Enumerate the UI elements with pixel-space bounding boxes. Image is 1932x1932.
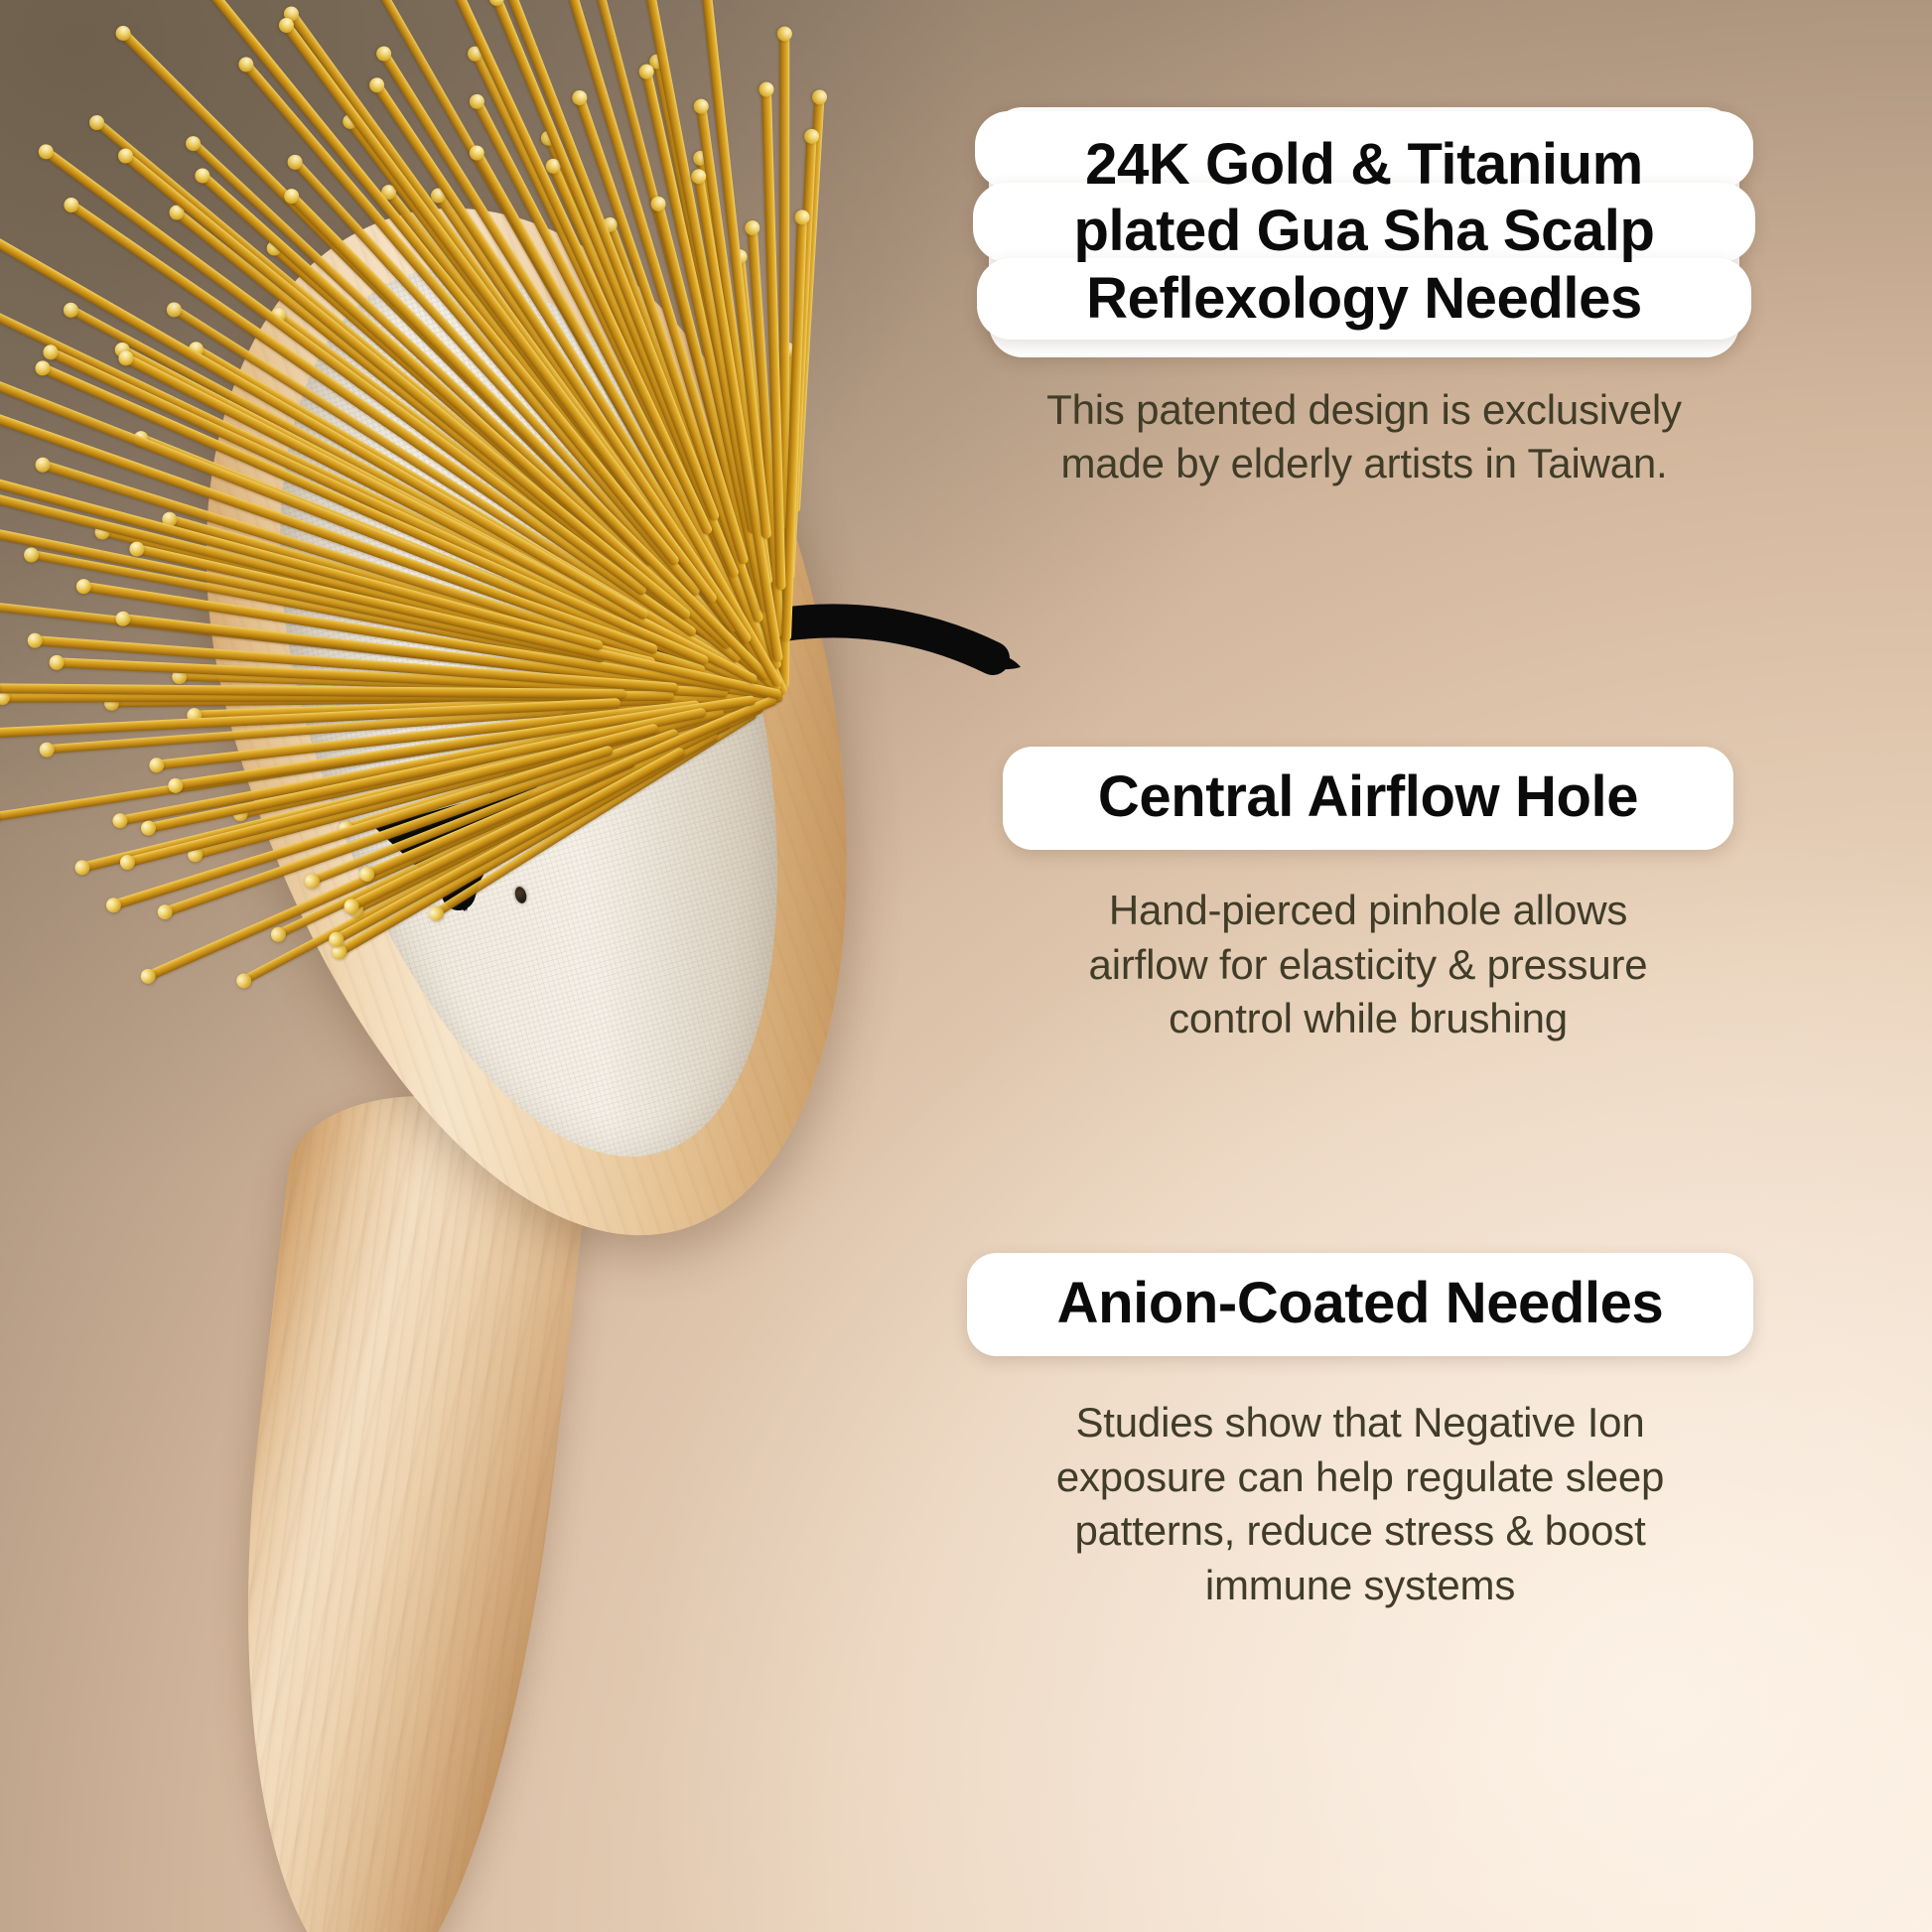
callout-2-title-line-1: Central Airflow Hole <box>1042 763 1694 830</box>
callout-1-title-line-3: Reflexology Needles <box>1023 265 1706 332</box>
callout-1-title-line-2: plated Gua Sha Scalp <box>1023 198 1706 264</box>
callout-1-title-line-1: 24K Gold & Titanium <box>1023 131 1706 198</box>
infographic-canvas: 24K Gold & Titanium plated Gua Sha Scalp… <box>0 0 1932 1932</box>
callout-3-title-line-1: Anion-Coated Needles <box>1007 1270 1714 1336</box>
callout-1-title-badge: 24K Gold & Titanium plated Gua Sha Scalp… <box>989 107 1739 357</box>
